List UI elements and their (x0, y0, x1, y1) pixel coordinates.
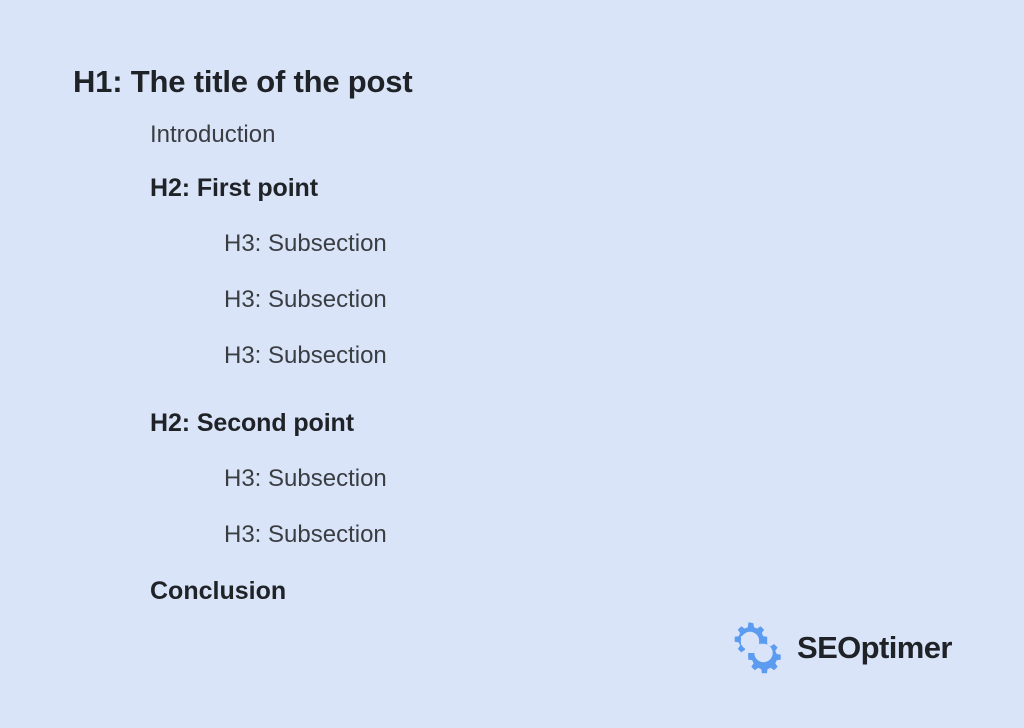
gears-icon (727, 619, 785, 675)
outline-structure: H1: The title of the post Introduction H… (0, 66, 1024, 604)
blog-outline-diagram: H1: The title of the post Introduction H… (0, 0, 1024, 728)
outline-conclusion: Conclusion (0, 579, 1024, 604)
outline-h3-subsection: H3: Subsection (0, 288, 1024, 312)
outline-introduction: Introduction (0, 123, 1024, 147)
outline-h3-subsection: H3: Subsection (0, 344, 1024, 368)
outline-h3-subsection: H3: Subsection (0, 523, 1024, 547)
seoptimer-wordmark: SEOptimer (797, 632, 952, 663)
outline-h2-second-point: H2: Second point (0, 411, 1024, 436)
outline-h3-subsection: H3: Subsection (0, 467, 1024, 491)
outline-h3-subsection: H3: Subsection (0, 232, 1024, 256)
seoptimer-logo: SEOptimer (727, 619, 952, 675)
outline-h1-title: H1: The title of the post (0, 66, 1024, 97)
outline-h2-first-point: H2: First point (0, 176, 1024, 201)
